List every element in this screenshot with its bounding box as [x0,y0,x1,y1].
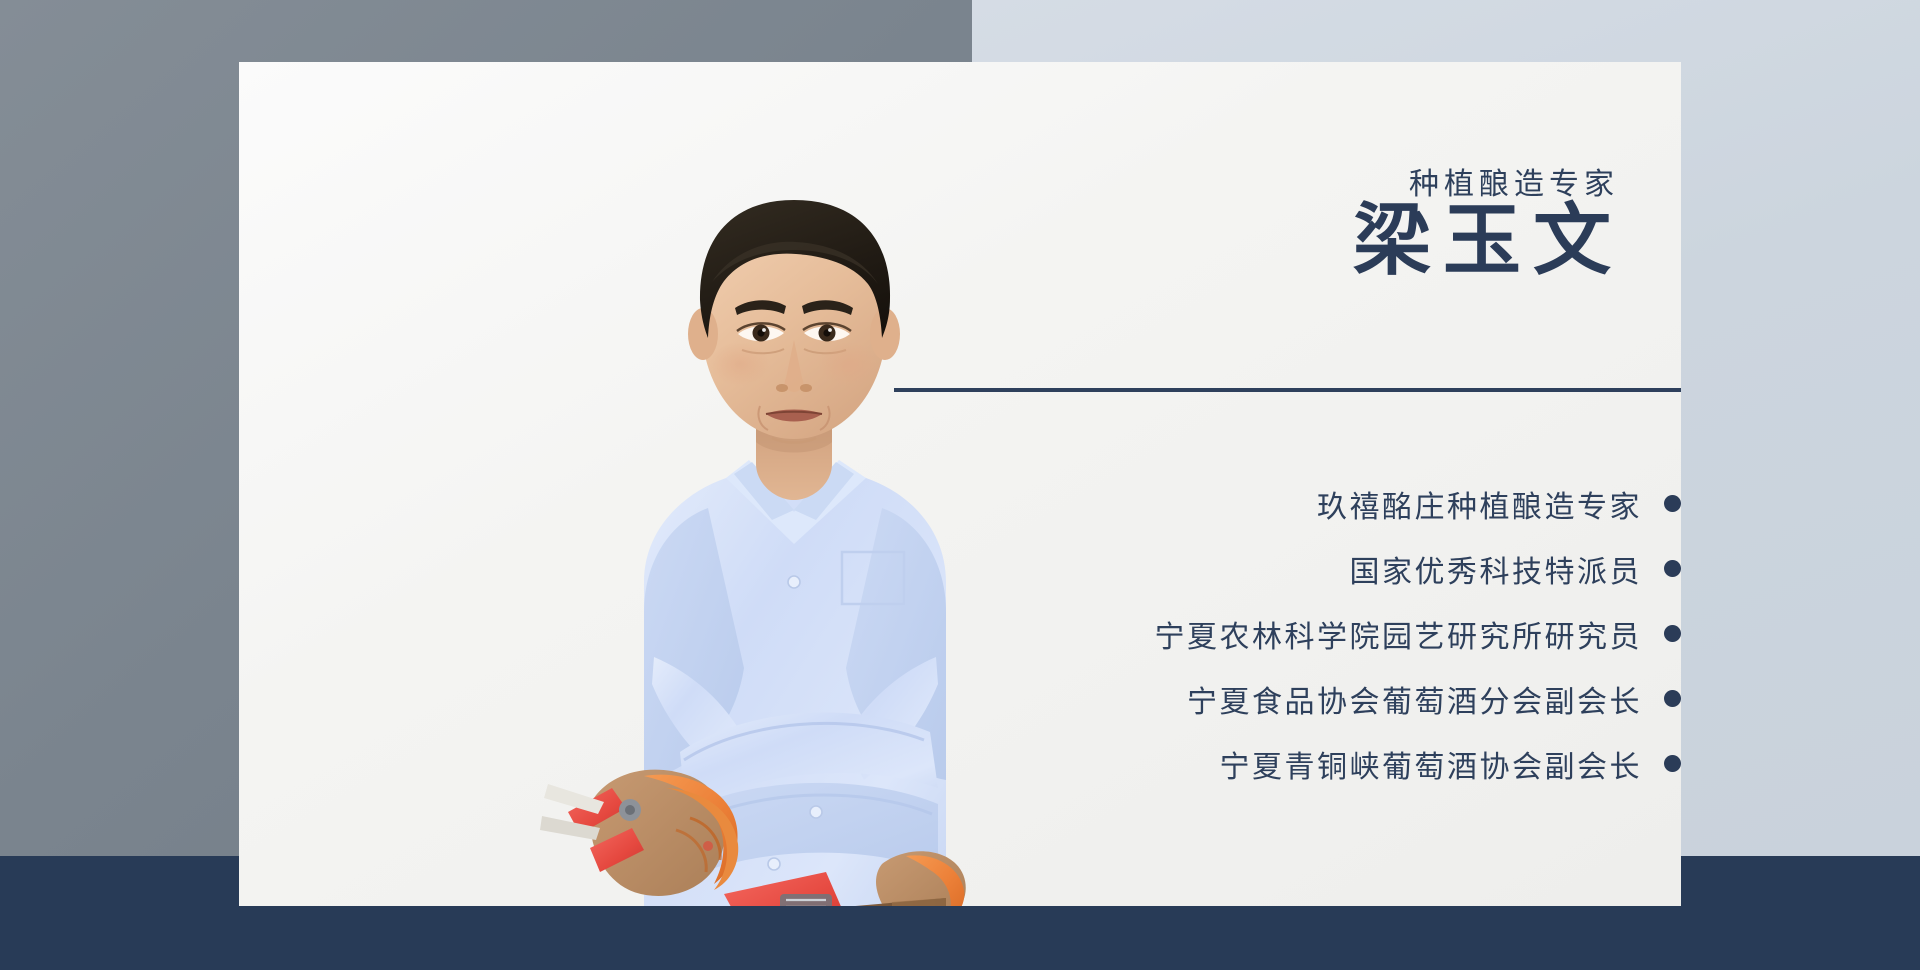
bullet-dot-icon [1664,560,1681,577]
profile-card: 种植酿造专家 梁玉文 玖禧酩庄种植酿造专家 国家优秀科技特派员 宁夏农林科学院园… [239,62,1681,906]
bullet-dot-icon [1664,690,1681,707]
profile-text-column: 种植酿造专家 梁玉文 玖禧酩庄种植酿造专家 国家优秀科技特派员 宁夏农林科学院园… [939,62,1681,906]
divider-line [894,388,1681,392]
list-item: 宁夏青铜峡葡萄酒协会副会长 [939,737,1681,790]
credential-label: 宁夏青铜峡葡萄酒协会副会长 [1220,742,1643,786]
list-item: 国家优秀科技特派员 [939,542,1681,595]
credential-label: 宁夏农林科学院园艺研究所研究员 [1155,612,1643,656]
list-item: 玖禧酩庄种植酿造专家 [939,477,1681,530]
credential-label: 国家优秀科技特派员 [1350,547,1643,591]
credential-label: 玖禧酩庄种植酿造专家 [1317,482,1642,526]
bullet-dot-icon [1664,625,1681,642]
bullet-dot-icon [1664,755,1681,772]
divider [894,384,1681,396]
poster-stage: 种植酿造专家 梁玉文 玖禧酩庄种植酿造专家 国家优秀科技特派员 宁夏农林科学院园… [0,0,1920,970]
bullet-dot-icon [1664,495,1681,512]
profile-name: 梁玉文 [1353,195,1623,287]
credential-label: 宁夏食品协会葡萄酒分会副会长 [1187,677,1642,721]
list-item: 宁夏农林科学院园艺研究所研究员 [939,607,1681,660]
list-item: 宁夏食品协会葡萄酒分会副会长 [939,672,1681,725]
credentials-list: 玖禧酩庄种植酿造专家 国家优秀科技特派员 宁夏农林科学院园艺研究所研究员 宁夏食… [939,477,1681,802]
